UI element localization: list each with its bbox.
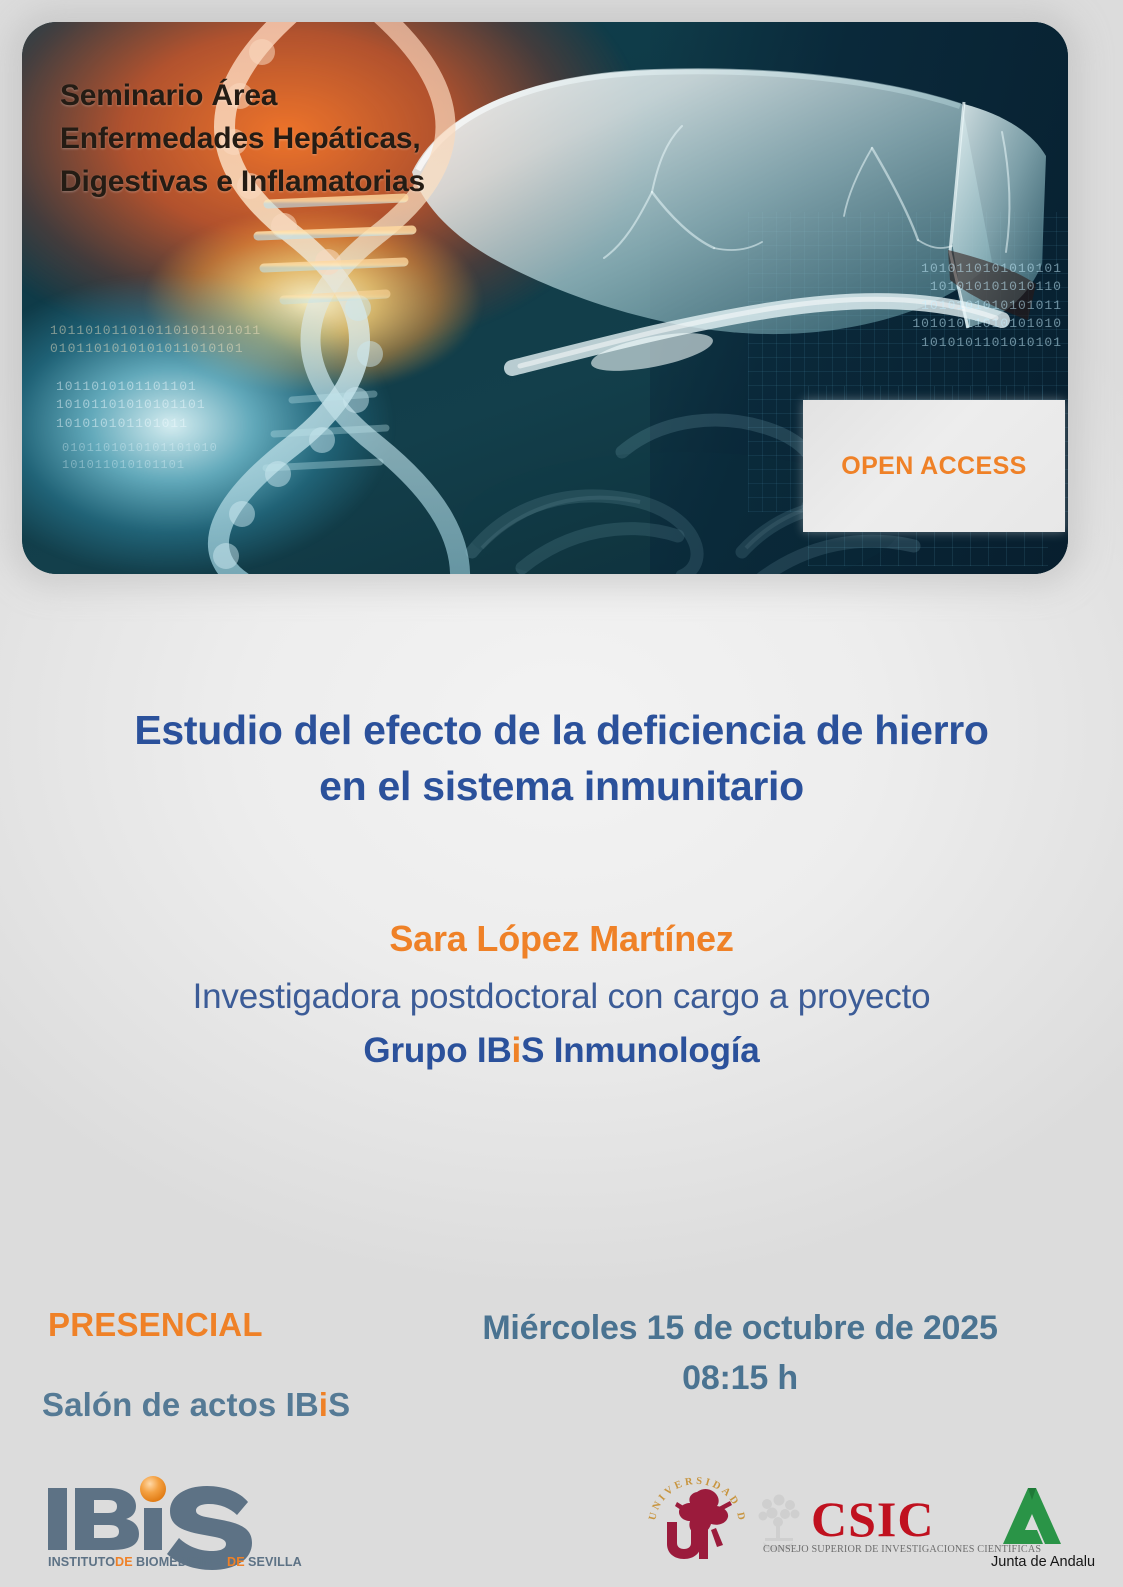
ibis-tagline-instituto: INSTITUTO	[48, 1555, 115, 1569]
ibis-logo: INSTITUTO DE BIOMEDICINA DE SEVILLA	[42, 1476, 320, 1572]
universidad-de-sevilla-logo: UNIVERSIDAD DE SEVILLA	[645, 1474, 747, 1567]
open-access-badge: OPEN ACCESS	[803, 400, 1065, 532]
talk-title-line-2: en el sistema inmunitario	[0, 759, 1123, 815]
speaker-role: Investigadora postdoctoral con cargo a p…	[0, 973, 1123, 1020]
venue-suffix: S	[328, 1386, 350, 1423]
venue-accent-i: i	[319, 1386, 328, 1423]
talk-title-line-1: Estudio del efecto de la deficiencia de …	[0, 703, 1123, 759]
partner-logos: UNIVERSIDAD DE SEVILLA	[645, 1474, 1095, 1574]
series-line-1: Seminario Área	[60, 74, 425, 117]
venue-label: Salón de actos IBiS	[42, 1386, 350, 1424]
seminar-series-heading: Seminario Área Enfermedades Hepáticas, D…	[60, 74, 425, 204]
series-line-2: Enfermedades Hepáticas,	[60, 117, 425, 160]
speaker-name: Sara López Martínez	[0, 916, 1123, 963]
seminar-poster: 101101011010110101101011 010110101010101…	[0, 0, 1123, 1587]
speaker-group: Grupo IBiS Inmunología	[0, 1028, 1123, 1074]
ibis-tagline-de-2: DE	[227, 1555, 245, 1569]
speaker-group-suffix: S Inmunología	[521, 1031, 760, 1070]
csic-wordmark: CSIC	[811, 1491, 934, 1547]
talk-title: Estudio del efecto de la deficiencia de …	[0, 703, 1123, 815]
event-date: Miércoles 15 de octubre de 2025	[410, 1303, 1070, 1353]
speaker-block: Sara López Martínez Investigadora postdo…	[0, 916, 1123, 1074]
open-access-label: OPEN ACCESS	[841, 452, 1026, 481]
ibis-tagline-sevilla: SEVILLA	[248, 1555, 302, 1569]
venue-prefix: Salón de actos IB	[42, 1386, 319, 1423]
event-time: 08:15 h	[410, 1353, 1070, 1403]
csic-logo: CSIC CONSEJO SUPERIOR DE INVESTIGACIONES…	[759, 1491, 1042, 1555]
ibis-tagline-de-1: DE	[115, 1555, 133, 1569]
modality-label: PRESENCIAL	[48, 1306, 263, 1344]
junta-name: Junta de Andalucía	[991, 1554, 1095, 1570]
datetime-block: Miércoles 15 de octubre de 2025 08:15 h	[410, 1303, 1070, 1404]
junta-de-andalucia-logo: Junta de Andalucía	[991, 1488, 1095, 1570]
series-line-3: Digestivas e Inflamatorias	[60, 160, 425, 203]
speaker-group-accent-i: i	[512, 1031, 522, 1070]
speaker-group-prefix: Grupo IB	[363, 1031, 511, 1070]
ibis-tagline-biomedicina: BIOMEDICINA	[136, 1555, 222, 1569]
banner: 101101011010110101101011 010110101010101…	[22, 22, 1068, 574]
banner-illustration: 101101011010110101101011 010110101010101…	[22, 22, 1068, 574]
